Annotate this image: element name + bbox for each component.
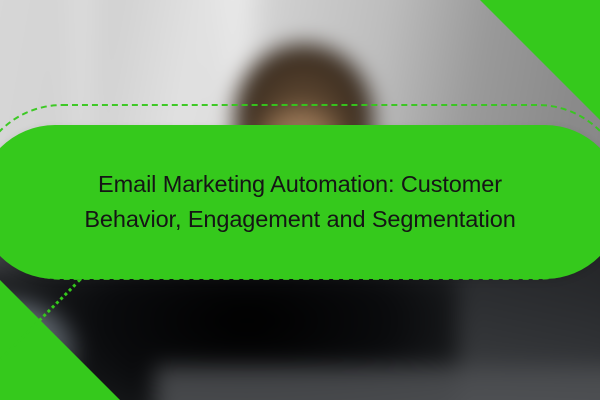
title-banner: Email Marketing Automation: Customer Beh… — [0, 125, 600, 279]
page-title: Email Marketing Automation: Customer Beh… — [50, 167, 550, 237]
thumbnail-canvas: Email Marketing Automation: Customer Beh… — [0, 0, 600, 400]
background-floor — [155, 366, 600, 400]
